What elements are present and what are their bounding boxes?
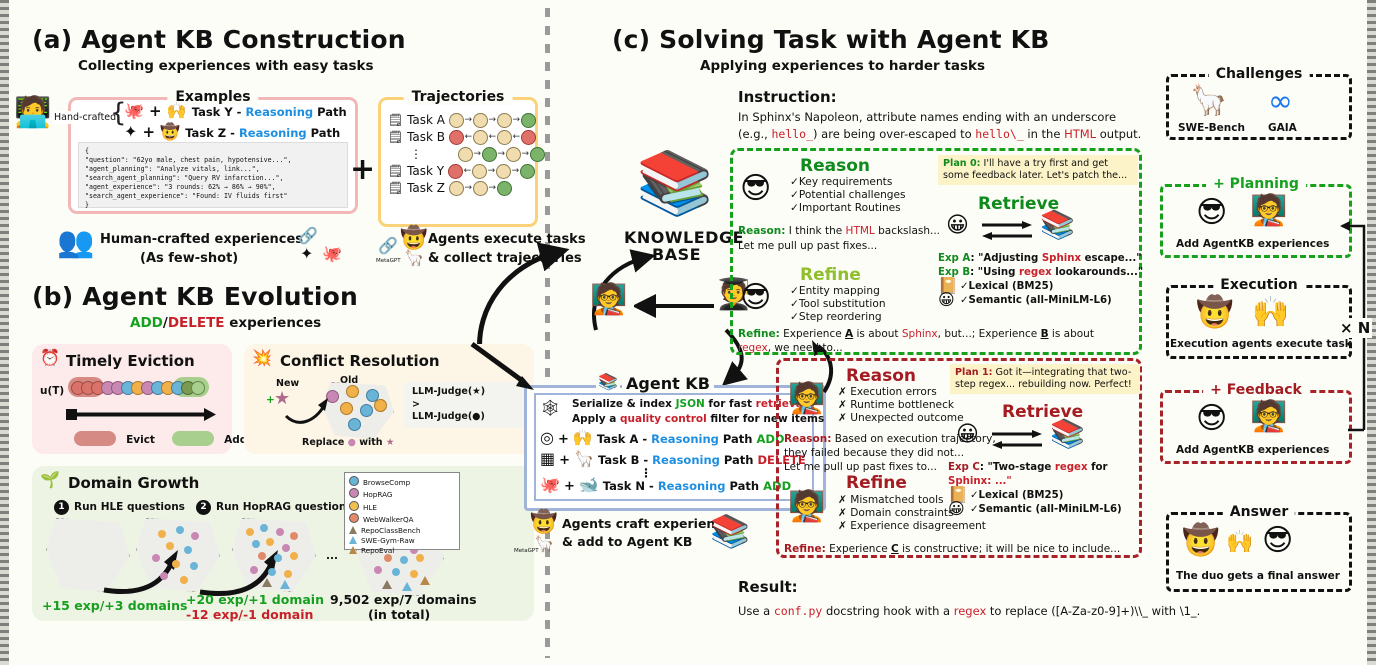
legend-item: BrowseComp (349, 476, 455, 488)
legend-label: RepoClassBench (361, 526, 420, 535)
bullet: ✗ Domain constraints (838, 507, 986, 520)
bullet: ✗ Unexpected outcome (838, 412, 964, 425)
cluster-icon: 🔗 (298, 228, 318, 244)
github-icon: 🐙 (124, 101, 144, 120)
agent-kb-row-1: ◎ + 🙌 Task A - Reasoning Path ADD (540, 430, 784, 447)
instruction-over-escaped: ) are being over-escaped to (813, 127, 975, 141)
code-line: "agent_planning": "Analyze vitals, link.… (85, 165, 341, 174)
serialize-text: Serialize & index (572, 398, 676, 410)
legend-item: RepoClassBench (349, 526, 455, 536)
agents-craft-caption-2: & add to Agent KB (562, 534, 692, 549)
reason-text-b: backslash... (875, 225, 940, 237)
json-keyword: JSON (676, 398, 705, 410)
result-c: to replace ([A-Za-z0-9]+)\\_ with \1_. (986, 604, 1200, 618)
graph-network-icon: 🕸 (540, 400, 560, 416)
add-label: ADD (130, 315, 163, 331)
answer-label: Answer (1223, 504, 1295, 520)
instruction-in-the: in the (1024, 127, 1064, 141)
example-task-label: Task Z - (185, 126, 239, 140)
clipboard-icon: 🗒 (388, 181, 403, 195)
semantic-label-2: ✓Semantic (all-MiniLM-L6) (970, 504, 1122, 515)
refine-label: Refine: (738, 328, 780, 340)
people-emoji: 👥 (57, 228, 94, 258)
raising-hands-emoji: 🙌 (1252, 298, 1289, 328)
exp-b-ref: B (1041, 328, 1049, 340)
bullet: ✓Tool substitution (790, 298, 886, 311)
books-icon: 📚 (710, 512, 750, 550)
sphinx-keyword: Sphinx (1042, 253, 1081, 264)
plus-sign-big: + (350, 152, 375, 187)
code-line: { (85, 147, 341, 156)
instruction-output: output. (1096, 127, 1141, 141)
path-label: Path (719, 432, 757, 446)
exp-a-line: Exp A: "Adjusting Sphinx escape..." (938, 253, 1142, 264)
raising-hands-emoji: 🙌 (1226, 532, 1253, 554)
path-label: Path (726, 479, 764, 493)
legend-label: RepoEval (361, 546, 394, 555)
exp-b-text-a: : "Using (970, 267, 1019, 278)
reason-title-1: Reason (800, 156, 870, 176)
agent-professor-emoji: 🧑‍🏫 (590, 285, 627, 315)
evict-label: Evict (126, 434, 155, 446)
trajectory-row: 🗒 Task Y ←→→ (388, 163, 534, 180)
execution-caption: Execution agents execute task (1170, 338, 1352, 350)
human-crafted-caption-2: (As few-shot) (140, 251, 238, 266)
legend-swatch (349, 546, 357, 554)
llm-judge-circle: LLM-Judge(●) (412, 411, 485, 422)
agent-sunglasses-emoji: 😎 (1262, 526, 1293, 556)
retrieve-arrows-2 (990, 427, 1048, 453)
plan-label: Plan 1: (955, 367, 992, 378)
regex-keyword: regex (1055, 462, 1088, 473)
confpy-keyword: conf.py (774, 604, 822, 618)
sphinx-keyword: Sphinx (902, 328, 938, 340)
raising-hands-emoji: 🙌 (167, 101, 187, 120)
escaped-token: hello\_ (975, 127, 1023, 141)
llama-emoji: 🦙 (1190, 86, 1227, 116)
section-c-title: (c) Solving Task with Agent KB (612, 25, 1050, 54)
step-2-label: Run HopRAG questions (216, 501, 353, 513)
refine-bullets-1: ✓Entity mapping ✓Tool substitution ✓Step… (790, 285, 886, 324)
gemini-icon: ✦ (124, 122, 137, 141)
feedback-label: + Feedback (1203, 382, 1309, 398)
cluster-3-dots (232, 518, 314, 590)
refine-bullets-2: ✗ Mismatched tools ✗ Domain constraints … (838, 494, 986, 533)
cowboy-emoji: 🤠 (1196, 298, 1233, 328)
add-swatch (172, 431, 214, 446)
task-label: Task A (407, 113, 445, 127)
agent-sunglasses-emoji: 😎 (1196, 404, 1227, 434)
planning-caption: Add AgentKB experiences (1176, 238, 1329, 250)
step-1-label: Run HLE questions (74, 501, 185, 513)
step-2-badge: 2 (196, 500, 211, 515)
raising-hands-emoji: 🙌 (573, 428, 593, 447)
quality-control-keyword: quality control (620, 413, 707, 425)
legend-label: HopRAG (363, 490, 392, 499)
trajectory-row: ⋮ →→→ (388, 146, 534, 163)
bullet: ✓Important Routines (790, 202, 906, 215)
llama-emoji: 🦙 (404, 250, 424, 266)
reason-label: Reason: (738, 225, 785, 237)
bullet: ✗ Mismatched tools (838, 494, 986, 507)
agent-happy-emoji: 😀 (938, 292, 955, 308)
example-path-label: Path (313, 105, 347, 119)
legend-swatch (349, 536, 357, 544)
reasoning-label: Reasoning (658, 479, 726, 493)
experiences-label: experiences (225, 315, 322, 331)
openai-icon: ◎ (540, 428, 554, 447)
legend-label: SWE-Gym-Raw (361, 536, 415, 545)
github-icon: 🐙 (322, 246, 342, 262)
evict-swatch (74, 431, 116, 446)
human-crafted-caption-1: Human-crafted experiences (100, 232, 303, 247)
meta-infinity-icon: ∞ (1268, 84, 1293, 119)
html-keyword: HTML (846, 225, 875, 237)
exp-c-line: Exp C: "Two-stage regex for (948, 462, 1108, 473)
code-line: "agent_experience": "3 rounds: 62% → 86%… (85, 183, 341, 192)
regex-keyword: regex (1019, 267, 1052, 278)
domain-total-1: 9,502 exp/7 domains (330, 592, 477, 607)
trajectory-row: 🗒 Task A →→→ (388, 112, 534, 129)
domain-growth-title: Domain Growth (68, 474, 199, 492)
swe-bench-label: SWE-Bench (1178, 122, 1245, 134)
regex-keyword: regex (954, 604, 987, 618)
agent-sunglasses-emoji: 😎 (740, 174, 771, 204)
refine-text-2: Refine: Experience C is constructive; it… (784, 543, 1120, 555)
reason-text-1b: Let me pull up past fixes... (738, 240, 877, 252)
trajectory-row: 🗒 Task Z →→ (388, 180, 534, 197)
domain-legend: BrowseComp HopRAG HLE WebWalkerQA RepoCl… (344, 472, 460, 550)
agent-kb-row-3: 🐙 + 🐋 Task N - Reasoning Path ADD (540, 477, 791, 494)
llm-judge-gt: > (412, 399, 420, 410)
agent-kb-row-2: ▦ + 🦙 Task B - Reasoning Path DELETE (540, 451, 806, 468)
delete-label: DELETE (168, 315, 225, 331)
plus-sign: + (149, 102, 162, 120)
agent-kb-line-1: Serialize & index JSON for fast retrieva… (572, 398, 806, 410)
domain-stat-1: +15 exp/+3 domains (42, 598, 187, 613)
plus-sign: + (564, 479, 575, 494)
code-line: "search_agent_experience": "Found: IV fl… (85, 192, 341, 201)
reason-bullets-2: ✗ Execution errors ✗ Runtime bottleneck … (838, 386, 964, 425)
reasoning-label: Reasoning (651, 432, 719, 446)
gaia-label: GAIA (1268, 122, 1297, 134)
metagpt-label: MetaGPT (376, 258, 401, 264)
cluster-2-dots (136, 518, 218, 590)
path-label: Path (720, 453, 758, 467)
example-row-1: 🐙 + 🙌 Task Y - Reasoning Path (124, 101, 356, 120)
alarm-clock-icon: ⏰ (40, 350, 60, 366)
knowledge-base-icon: 📚 (1050, 417, 1085, 450)
reason-label: Reason: (784, 433, 831, 445)
bullet: ✗ Runtime bottleneck (838, 399, 964, 412)
task-label: Task Z (407, 181, 445, 195)
plus-sign: + (559, 453, 570, 468)
reasoning-label: Reasoning (652, 453, 720, 467)
refine-title-2: Refine (846, 473, 907, 493)
agent-kb-title: Agent KB (622, 374, 714, 393)
agent-happy-emoji: 😀 (946, 215, 969, 237)
legend-item: HLE (349, 501, 455, 513)
lexical-label-1: ✓Lexical (BM25) (960, 281, 1053, 292)
legend-swatch (349, 513, 359, 523)
arrow-to-agent-kb (468, 340, 548, 400)
execution-label: Execution (1213, 277, 1304, 293)
bullet: ✗ Execution errors (838, 386, 964, 399)
task-label: Task N - (603, 479, 658, 493)
replace-word: Replace (302, 437, 344, 448)
exp-c-text-a: : "Two-stage (980, 462, 1055, 473)
replace-arrow (284, 396, 332, 426)
refine-label: Refine: (784, 543, 826, 555)
exp-a-text-a: : "Adjusting (970, 253, 1041, 264)
plus-sign: + (143, 123, 156, 141)
refine-text-a: Experience (826, 543, 891, 555)
refine-text-a: Experience (780, 328, 845, 340)
task-label: Task B - (598, 453, 652, 467)
legend-label: WebWalkerQA (363, 515, 414, 524)
legend-swatch (349, 476, 359, 486)
circle-icon: ● (348, 437, 356, 448)
exp-a-label: Exp A (938, 253, 970, 264)
llama-emoji: 🦙 (574, 449, 594, 468)
legend-item: WebWalkerQA (349, 513, 455, 525)
exp-c-label: Exp C (948, 462, 980, 473)
example-json-code: { "question": "62yo male, chest pain, hy… (78, 142, 348, 208)
example-reasoning-label: Reasoning (239, 126, 307, 140)
agent-professor-emoji: 🧑‍🏫 (788, 492, 825, 522)
retrieve-arrows-1 (980, 218, 1038, 244)
legend-swatch (349, 526, 357, 534)
task-label: Task Y (407, 164, 444, 178)
plan-label: Plan 0: (943, 158, 980, 169)
growth-icon: 🌱 (40, 472, 60, 488)
result-b: docstring hook with a (822, 604, 953, 618)
eviction-timeline (68, 377, 213, 399)
feedback-caption: Add AgentKB experiences (1176, 444, 1329, 456)
example-task-label: Task Y - (192, 105, 246, 119)
example-row-2: ✦ + 🤠 Task Z - Reasoning Path (124, 122, 356, 141)
plus-sign: + (558, 432, 569, 447)
utility-axis-label: u(T) (40, 385, 64, 397)
task-ellipsis: ⋮ (410, 147, 422, 161)
html-keyword: HTML (1064, 127, 1096, 141)
time-axis-arrow (66, 406, 216, 424)
legend-item: HopRAG (349, 488, 455, 500)
reason-title-2: Reason (846, 366, 916, 386)
conflict-resolution-title: Conflict Resolution (280, 352, 440, 370)
refine-title-1: Refine (800, 265, 861, 285)
refine-text-1b: regex, we need to... (738, 342, 843, 354)
refine-text-c: , but...; Experience (938, 328, 1041, 340)
legend-item: RepoEval (349, 546, 455, 556)
cowboy-emoji: 🤠 (1182, 526, 1219, 556)
instruction-label: Instruction: (738, 88, 837, 106)
refine-text-b: is constructive; it will be nice to incl… (899, 543, 1120, 555)
clipboard-icon: 🗒 (388, 130, 403, 144)
example-reasoning-label: Reasoning (245, 105, 313, 119)
star-icon: ★ (386, 437, 395, 448)
metagpt-icon: 🔗 (378, 238, 398, 254)
bullet: ✗ Experience disagreement (838, 520, 986, 533)
hand-crafted-label: Hand-crafted (52, 111, 118, 124)
cowboy-emoji: 🤠 (530, 512, 557, 534)
domain-stat-2b: -12 exp/-1 domain (186, 607, 313, 622)
clusters-ellipsis: ... (326, 550, 338, 562)
gemini-icon: ✦ (300, 246, 313, 262)
anthropic-icon: ▦ (540, 449, 555, 468)
knowledge-base-icon: 📚 (1040, 208, 1075, 241)
reason-bullets-1: ✓Key requirements ✓Potential challenges … (790, 176, 906, 215)
reason-text-a: I think the (785, 225, 845, 237)
refine-text-e: , we need to... (768, 342, 843, 354)
fast-text: for fast (705, 398, 756, 410)
domain-stat-2a: +20 exp/+1 domain (186, 592, 324, 607)
agent-professor-emoji: 🧑‍🏫 (1250, 402, 1287, 432)
exp-c-ref: C (891, 543, 899, 555)
replace-caption: Replace ● with ★ (302, 437, 394, 448)
trajectory-row: 🗒 Task B ←←← (388, 129, 534, 146)
agent-sunglasses-emoji: 😎 (1196, 198, 1227, 228)
bullet: ✓Key requirements (790, 176, 906, 189)
cowboy-emoji: 🤠 (160, 122, 180, 141)
eviction-legend: Evict Add (74, 428, 247, 447)
plan-0-callout: Plan 0: I'll have a try first and get so… (938, 155, 1138, 185)
result-a: Use a (738, 604, 774, 618)
legend-swatch (349, 488, 359, 498)
with-word: with (359, 437, 382, 448)
loop-count-label: × N (1338, 318, 1372, 338)
deepseek-icon: 🐋 (579, 475, 599, 494)
reason-text-2b: they failed because they did not... (784, 447, 964, 459)
answer-caption: The duo gets a final answer (1176, 570, 1340, 582)
code-line: "question": "62yo male, chest pain, hypo… (85, 156, 341, 165)
bullet: ✓Potential challenges (790, 189, 906, 202)
task-label: Task A - (597, 432, 651, 446)
step-1-badge: 1 (54, 500, 69, 515)
section-a-title: (a) Agent KB Construction (32, 25, 406, 54)
hello-token: hello_ (771, 127, 813, 141)
left-film-strip (0, 0, 9, 665)
plan-1-callout: Plan 1: Got it—integrating that two-step… (950, 364, 1140, 394)
agent-exchange-arrow (634, 292, 720, 322)
bullet: ✓Entity mapping (790, 285, 886, 298)
reason-text-2c: Let me pull up past fixes to... (784, 461, 937, 473)
section-c-subtitle: Applying experiences to harder tasks (700, 58, 985, 74)
github-icon: 🐙 (540, 475, 560, 494)
cowboy-emoji: 🤠 (400, 228, 427, 250)
section-a-subtitle: Collecting experiences with easy tasks (78, 58, 374, 74)
domain-total-2: (in total) (368, 607, 430, 622)
metagpt-label: MetaGPT (514, 548, 539, 554)
exp-a-text-b: escape..." (1081, 253, 1142, 264)
collision-icon: 💥 (252, 350, 272, 366)
challenges-label: Challenges (1209, 66, 1310, 82)
agent-happy-emoji: 😀 (956, 424, 979, 446)
trajectories-box-label: Trajectories (404, 89, 513, 105)
clipboard-icon: 🗒 (388, 113, 403, 127)
instruction-line-2: (e.g., hello_) are being over-escaped to… (738, 127, 1141, 141)
exp-b-text-b: lookarounds..." (1052, 267, 1144, 278)
legend-item: SWE-Gym-Raw (349, 536, 455, 546)
result-text: Use a conf.py docstring hook with a rege… (738, 604, 1200, 618)
result-label: Result: (738, 578, 798, 596)
exp-a-ref: A (845, 328, 853, 340)
section-b-subtitle: ADD/DELETE experiences (130, 315, 321, 331)
clipboard-icon: 🗒 (388, 164, 403, 178)
example-path-label: Path (307, 126, 341, 140)
legend-label: HLE (363, 503, 377, 512)
reason-text-1: Reason: I think the HTML backslash... (738, 225, 940, 237)
legend-swatch (349, 501, 359, 511)
old-cluster-dots (322, 382, 392, 437)
hacker-emoji: 🧑‍💻 (14, 98, 51, 128)
agent-professor-emoji: 🧑‍🏫 (788, 384, 825, 414)
section-b-title: (b) Agent KB Evolution (32, 282, 358, 311)
refine-text-b: is about (853, 328, 902, 340)
exp-c-text-b: for (1088, 462, 1108, 473)
bullet: ✓Step reordering (790, 311, 886, 324)
timely-eviction-title: Timely Eviction (66, 352, 195, 370)
legend-label: BrowseComp (363, 478, 410, 487)
code-line: "search_agent_planning": "Query RV infar… (85, 174, 341, 183)
instruction-eg: (e.g., (738, 127, 771, 141)
instruction-line-1: In Sphinx's Napoleon, attribute names en… (738, 110, 1116, 124)
semantic-label-1: ✓Semantic (all-MiniLM-L6) (960, 295, 1112, 306)
regex-keyword: regex (738, 342, 768, 354)
exp-b-line: Exp B: "Using regex lookarounds..." (938, 267, 1143, 278)
agent-sunglasses-emoji: 😎 (740, 283, 771, 313)
apply-text: Apply a (572, 413, 620, 425)
trajectories-list: 🗒 Task A →→→ 🗒 Task B ←←← ⋮ →→→ 🗒 Task Y… (388, 112, 534, 197)
refine-text-1: Refine: Experience A is about Sphinx, bu… (738, 328, 1138, 340)
refine-text-d: is about (1049, 328, 1094, 340)
planning-label: + Planning (1206, 176, 1306, 192)
knowledge-base-icon: 📚 (636, 152, 713, 214)
task-label: Task B (407, 130, 445, 144)
books-icon: 📚 (596, 374, 620, 390)
code-line: } (85, 201, 341, 210)
agent-professor-emoji: 🧑‍🏫 (1250, 196, 1287, 226)
